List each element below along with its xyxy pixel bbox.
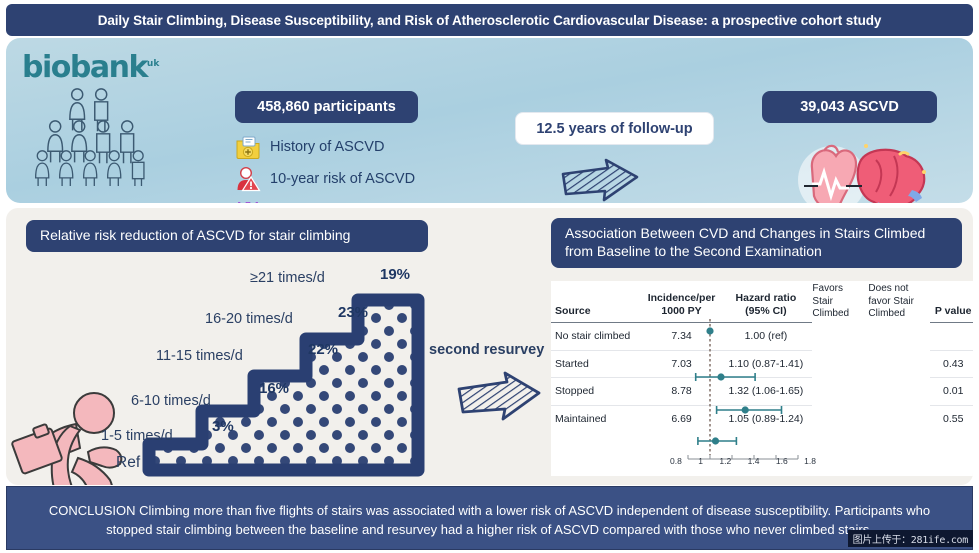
forest-plot xyxy=(680,303,806,475)
axis-tick: 0.8 xyxy=(670,456,682,466)
cell-forest-marker xyxy=(812,350,930,378)
axis-tick: 1.8 xyxy=(804,456,816,466)
person-warning-icon xyxy=(235,166,261,192)
favors-l2: Stair xyxy=(812,296,864,309)
ascvd-events-badge: 39,043 ASCVD xyxy=(762,91,937,123)
watermark: 图片上传于：281ife.com xyxy=(848,530,973,547)
notfavor-l2: favor Stair xyxy=(868,296,930,309)
conclusion-banner: CONCLUSION Climbing more than five fligh… xyxy=(6,486,973,550)
th-favors-stair: Favors Stair Climbed xyxy=(812,283,864,321)
cell-p-value: 0.55 xyxy=(930,405,973,432)
conclusion-text: CONCLUSION Climbing more than five fligh… xyxy=(29,502,950,540)
stair-label-16-20: 16-20 times/d xyxy=(205,311,293,327)
stair-pct-11-15: 22% xyxy=(308,341,338,358)
cell-forest-marker xyxy=(812,405,930,432)
infographic-poster: Daily Stair Climbing, Disease Susceptibi… xyxy=(0,0,979,553)
stair-label-6-10: 6-10 times/d xyxy=(131,393,211,409)
people-group-icon xyxy=(24,86,164,186)
stair-label-11-15: 11-15 times/d xyxy=(156,348,243,364)
favors-l1: Favors xyxy=(812,283,864,296)
cell-source: Stopped xyxy=(551,378,644,406)
stair-pct-6-10: 16% xyxy=(259,380,289,397)
second-resurvey-label: second resurvey xyxy=(429,342,544,358)
forest-axis-ticks: 0.8 1 1.2 1.4 1.6 1.8 xyxy=(670,456,816,466)
followup-badge: 12.5 years of follow-up xyxy=(515,112,714,145)
axis-tick: 1 xyxy=(698,456,703,466)
criterion-label: History of ASCVD xyxy=(270,139,384,155)
folder-plus-icon xyxy=(235,134,261,160)
stair-label-ge21: ≥21 times/d xyxy=(250,270,325,286)
cell-p-value: 0.01 xyxy=(930,378,973,406)
criterion-history-of-ascvd: History of ASCVD xyxy=(235,134,384,160)
heart-brain-icon xyxy=(784,138,934,203)
stair-pct-ge21: 19% xyxy=(380,266,410,283)
criterion-label: 10-year risk of ASCVD xyxy=(270,171,415,187)
hatched-right-arrow-icon xyxy=(560,158,640,203)
axis-tick: 1.2 xyxy=(719,456,731,466)
criterion-genetic-risk: Genetic risk score of CAD/IS xyxy=(235,198,455,203)
cell-forest-marker xyxy=(812,378,930,406)
favors-l3: Climbed xyxy=(812,308,864,321)
axis-tick: 1.4 xyxy=(748,456,760,466)
page-title: Daily Stair Climbing, Disease Susceptibi… xyxy=(6,4,973,36)
th-p-value: P value xyxy=(930,281,973,323)
cell-forest-marker xyxy=(812,323,930,351)
th-forest-direction: Favors Stair Climbed Does not favor Stai… xyxy=(812,281,930,323)
cell-source: Maintained xyxy=(551,405,644,432)
hatched-right-arrow-icon xyxy=(456,370,542,424)
participants-badge: 458,860 participants xyxy=(235,91,418,123)
biobank-logo-text: biobank xyxy=(22,50,147,85)
stair-label-1-5: 1-5 times/d xyxy=(101,428,173,444)
criterion-10year-risk: 10-year risk of ASCVD xyxy=(235,166,415,192)
stair-pct-16-20: 23% xyxy=(338,304,368,321)
biobank-logo-sup: uk xyxy=(147,59,159,69)
cohort-panel: biobankuk xyxy=(6,38,973,203)
cell-p-value xyxy=(930,323,973,351)
right-section-heading: Association Between CVD and Changes in S… xyxy=(551,218,962,268)
dna-icon xyxy=(235,198,261,203)
stair-label-ref: Ref xyxy=(116,454,140,472)
th-does-not-favor-stair: Does not favor Stair Climbed xyxy=(868,283,930,321)
cell-source: No stair climbed xyxy=(551,323,644,351)
notfavor-l1: Does not xyxy=(868,283,930,296)
cell-p-value: 0.43 xyxy=(930,350,973,378)
stair-pct-1-5: 3% xyxy=(212,418,234,435)
th-source: Source xyxy=(551,281,644,323)
cell-source: Started xyxy=(551,350,644,378)
results-panel: Relative risk reduction of ASCVD for sta… xyxy=(6,208,973,485)
biobank-logo: biobankuk xyxy=(22,50,159,85)
axis-tick: 1.6 xyxy=(776,456,788,466)
notfavor-l3: Climbed xyxy=(868,308,930,321)
